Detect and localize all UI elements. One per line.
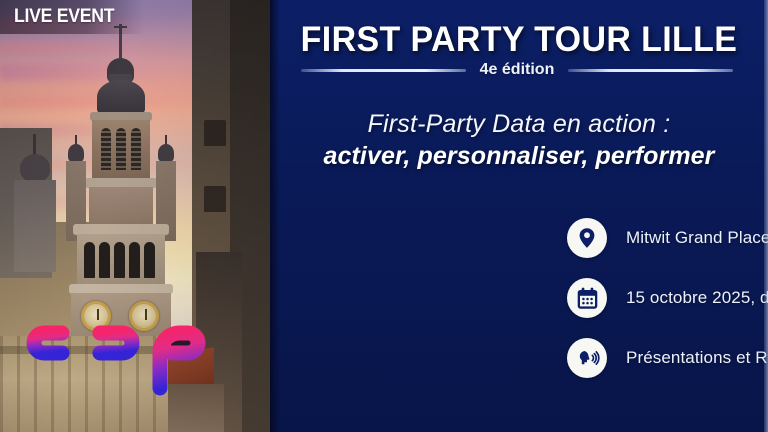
edition-label: 4e édition [480, 62, 555, 78]
page-title: FIRST PARTY TOUR LILLE [277, 22, 760, 57]
divider-right [568, 69, 733, 72]
subtitle-line-2: activer, personnaliser, performer [284, 140, 754, 172]
map-pin-icon [567, 218, 607, 258]
fpt-logo [22, 316, 222, 398]
detail-row-date: 15 octobre 2025, de 9h à 12h [567, 278, 768, 318]
event-banner: LIVE EVENT [0, 0, 768, 432]
detail-row-location: Mitwit Grand Place - Lille Centre [567, 218, 768, 258]
subtitle-line-1: First-Party Data en action : [284, 108, 754, 140]
live-event-label: LIVE EVENT [14, 7, 114, 26]
calendar-icon [567, 278, 607, 318]
subtitle: First-Party Data en action : activer, pe… [284, 108, 754, 172]
detail-row-presentations: Présentations et RDV avec nos experts [567, 338, 768, 378]
content-panel: FIRST PARTY TOUR LILLE 4e édition First-… [270, 0, 768, 432]
divider-left [301, 69, 466, 72]
detail-text-presentations: Présentations et RDV avec nos experts [626, 348, 768, 368]
edition-row: 4e édition [280, 62, 754, 78]
lille-belfry-photo: LIVE EVENT [0, 0, 270, 432]
speaker-head-icon [567, 338, 607, 378]
detail-text-date: 15 octobre 2025, de 9h à 12h [626, 288, 768, 308]
live-event-badge: LIVE EVENT [0, 0, 144, 34]
detail-text-location: Mitwit Grand Place - Lille Centre [626, 228, 768, 248]
